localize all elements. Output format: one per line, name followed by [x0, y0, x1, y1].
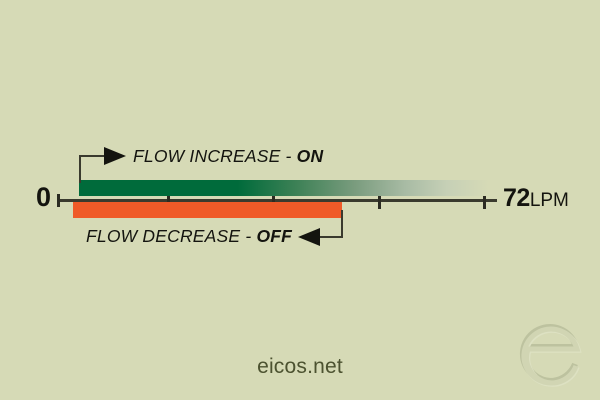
flow-decrease-bar — [73, 202, 342, 218]
flow-decrease-callout: FLOW DECREASE - OFF — [86, 226, 292, 247]
flow-increase-bar — [79, 180, 497, 196]
top-leader-vertical — [79, 155, 81, 183]
top-leader-horizontal — [79, 155, 107, 157]
scale-max-label: 72LPM — [503, 186, 569, 211]
flow-increase-label: FLOW INCREASE - — [133, 146, 297, 166]
arrow-left-icon — [298, 228, 320, 246]
scale-max-unit: LPM — [530, 190, 569, 211]
arrow-right-icon — [104, 147, 126, 165]
scale-max-value: 72 — [503, 184, 530, 212]
axis-tick-0 — [57, 194, 60, 207]
flow-decrease-label: FLOW DECREASE - — [86, 226, 256, 246]
bottom-leader-horizontal — [316, 236, 343, 238]
diagram-canvas: 0 72LPM FLOW INCREASE - ON FLOW DECREASE… — [0, 0, 600, 400]
flow-decrease-state: OFF — [256, 226, 292, 246]
bottom-leader-vertical — [341, 210, 343, 238]
flow-increase-state: ON — [297, 146, 324, 166]
flow-increase-callout: FLOW INCREASE - ON — [133, 146, 323, 167]
eicos-logo-icon — [508, 312, 592, 396]
scale-min-label: 0 — [36, 184, 51, 211]
